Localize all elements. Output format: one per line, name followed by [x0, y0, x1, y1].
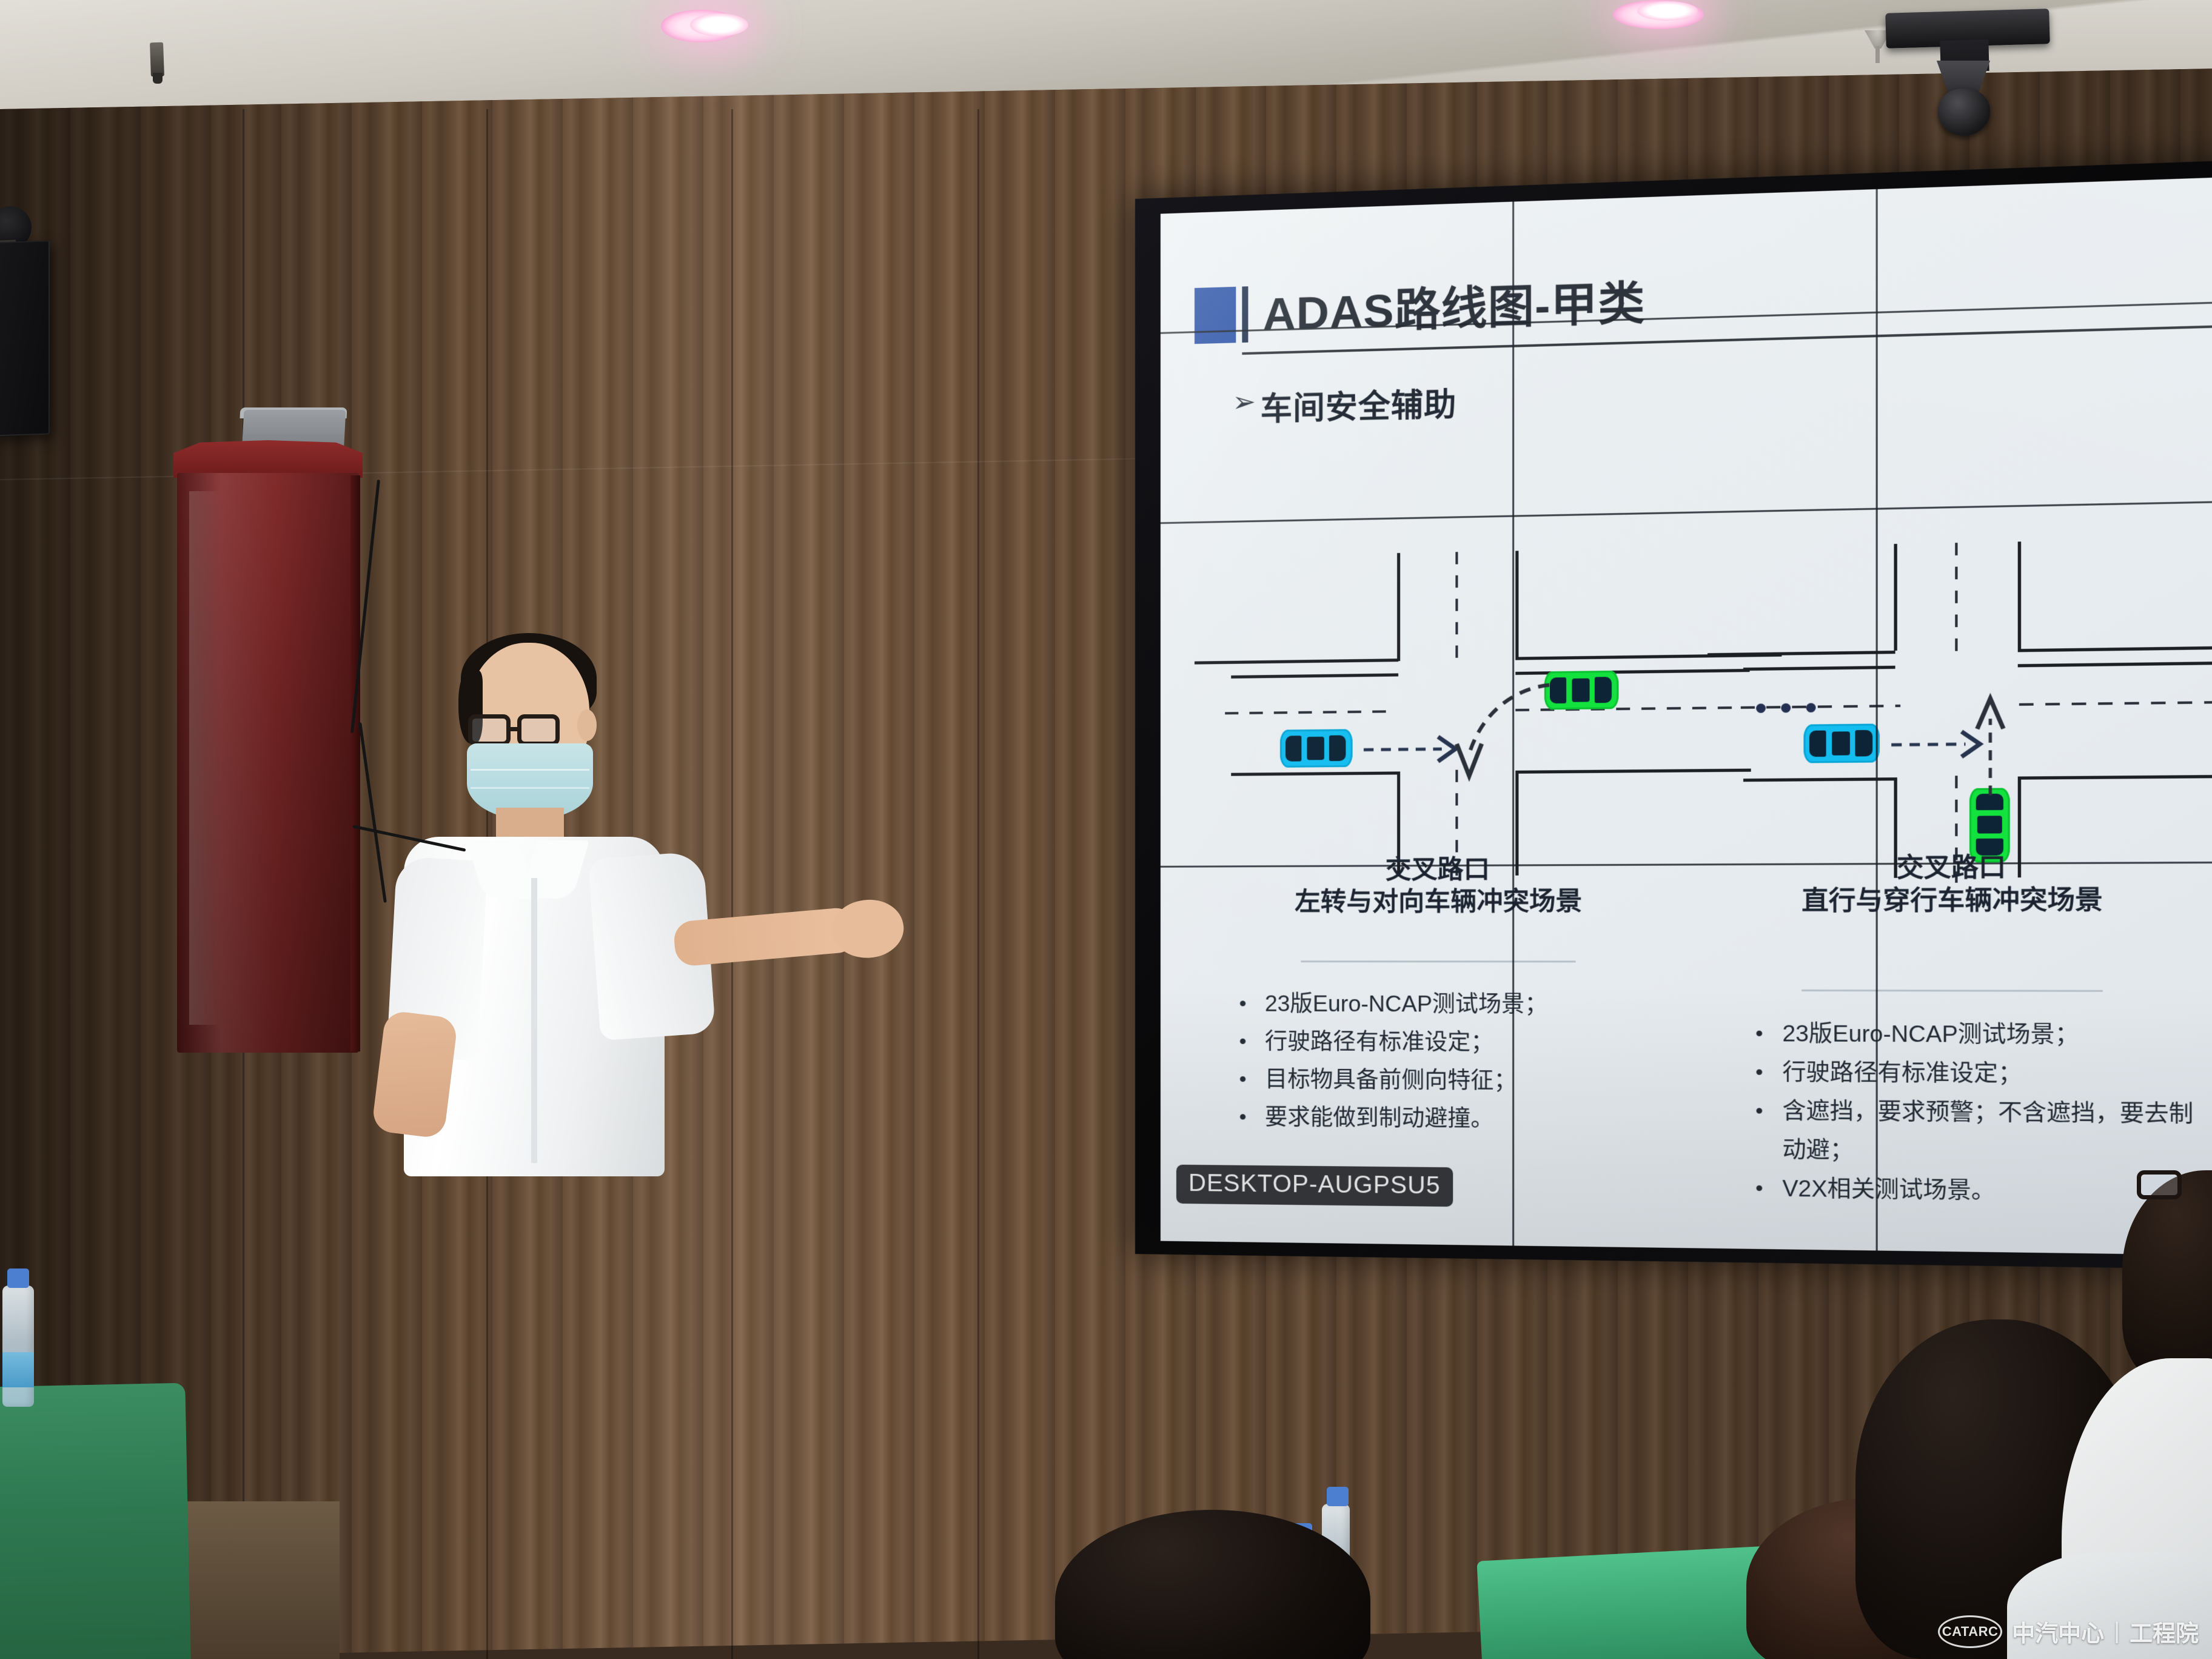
list-item: 行驶路径有标准设定； — [1749, 1053, 2200, 1094]
presenter — [364, 643, 910, 1310]
water-bottle — [2, 1285, 34, 1407]
sprinkler-stem — [1875, 46, 1880, 63]
video-wall-display[interactable]: ADAS路线图-甲类 ➢ 车间安全辅助 — [1135, 159, 2212, 1270]
list-item: 要求能做到制动避撞。 — [1233, 1098, 1666, 1139]
arm-left — [371, 1010, 458, 1139]
bottle-label — [2, 1352, 34, 1387]
arrow-target-straight-icon — [1968, 689, 2016, 799]
list-item: 23版Euro-NCAP测试场景； — [1233, 985, 1666, 1024]
bottle-cap — [1327, 1487, 1349, 1506]
podium-edge — [350, 475, 360, 1051]
display-bezel: ADAS路线图-甲类 ➢ 车间安全辅助 — [1135, 159, 2212, 1270]
vehicle-ego-blue — [1803, 723, 1880, 763]
table-left — [0, 1383, 191, 1659]
glasses-icon — [517, 714, 560, 746]
ceiling-light-icon — [1637, 1, 1698, 21]
wall-panel-seam — [977, 109, 979, 1659]
caption-line-1: 交叉路口 — [1386, 854, 1490, 883]
scenario-bullets-right: 23版Euro-NCAP测试场景； 行驶路径有标准设定； 含遮挡，要求预警；不含… — [1749, 1014, 2200, 1213]
bottle-cap — [7, 1269, 29, 1288]
slide-panels: 交叉路口 左转与对向车辆冲突场景 23版Euro-NCAP测试场景； 行驶路径有… — [1195, 477, 2212, 1233]
display-panel-seam — [1512, 202, 1514, 1246]
bullet-divider — [1802, 990, 2103, 992]
bullet-divider — [1301, 960, 1576, 962]
shirt-placket — [531, 878, 537, 1163]
display-panel-seam — [1875, 189, 1877, 1251]
title-accent-bar — [1242, 286, 1248, 343]
slide-subheading-row: ➢ 车间安全辅助 — [1195, 358, 2212, 427]
screenshot-root: ADAS路线图-甲类 ➢ 车间安全辅助 — [0, 0, 2212, 1659]
caption-line-2: 左转与对向车辆冲突场景 — [1195, 885, 1686, 918]
watermark-separator: | — [2114, 1618, 2120, 1644]
list-item: 23版Euro-NCAP测试场景； — [1749, 1014, 2200, 1055]
spotlight-icon — [1938, 89, 1990, 136]
wall-speaker — [0, 240, 50, 436]
mask-fold — [471, 787, 589, 789]
wall-fixture-tip — [153, 73, 163, 84]
scenario-panel-left: 交叉路口 左转与对向车辆冲突场景 23版Euro-NCAP测试场景； 行驶路径有… — [1195, 488, 1686, 1227]
list-item: V2X相关测试场景。 — [1749, 1169, 2200, 1213]
slide-title: ADAS路线图-甲类 — [1263, 274, 1646, 343]
scenario-panel-right: 交叉路口 直行与穿行车辆冲突场景 23版Euro-NCAP测试场景； 行驶路径有… — [1686, 477, 2212, 1233]
podium-highlight — [189, 491, 221, 1025]
vehicle-ego-blue — [1280, 729, 1353, 768]
list-item: 目标物具备前侧向特征； — [1233, 1061, 1666, 1101]
intersection-diagram-right — [1708, 477, 2212, 861]
list-item: 行驶路径有标准设定； — [1233, 1023, 1666, 1063]
chevron-right-icon: ➢ — [1232, 387, 1256, 416]
hand-right — [826, 893, 908, 965]
podium — [173, 440, 363, 1053]
ceiling-light-icon — [690, 13, 748, 36]
list-item: 含遮挡，要求预警；不含遮挡，要去制动避； — [1749, 1091, 2200, 1173]
watermark: CATARC 中汽中心 | 工程院 — [1938, 1615, 2199, 1648]
podium-top — [173, 440, 363, 478]
title-accent-block — [1195, 287, 1236, 344]
ear — [577, 709, 597, 741]
arrow-target-turn-icon — [1427, 671, 1564, 789]
glasses-icon — [2137, 1170, 2182, 1199]
caption-line-1: 交叉路口 — [1897, 853, 2006, 882]
slide-subheading: 车间安全辅助 — [1261, 387, 1457, 427]
caption-line-2: 直行与穿行车辆冲突场景 — [1686, 883, 2212, 917]
slide-title-row: ADAS路线图-甲类 — [1195, 254, 2212, 363]
glasses-icon — [468, 714, 511, 746]
glasses-bridge — [511, 727, 519, 731]
presentation-slide: ADAS路线图-甲类 ➢ 车间安全辅助 — [1161, 176, 2212, 1256]
catarc-logo-icon: CATARC — [1938, 1615, 2002, 1648]
wall-fixture-icon — [150, 42, 164, 77]
intersection-diagram-left — [1195, 488, 1686, 863]
mask-fold — [471, 769, 589, 771]
watermark-dept: 工程院 — [2130, 1615, 2199, 1648]
display-screen: ADAS路线图-甲类 ➢ 车间安全辅助 — [1161, 176, 2212, 1256]
scenario-caption-left: 交叉路口 左转与对向车辆冲突场景 — [1195, 853, 1686, 918]
host-name-badge: DESKTOP-AUGPSU5 — [1176, 1165, 1453, 1207]
scenario-caption-right: 交叉路口 直行与穿行车辆冲突场景 — [1686, 850, 2212, 917]
watermark-org: 中汽中心 — [2012, 1615, 2104, 1648]
scenario-bullets-left: 23版Euro-NCAP测试场景； 行驶路径有标准设定； 目标物具备前侧向特征；… — [1233, 985, 1666, 1139]
